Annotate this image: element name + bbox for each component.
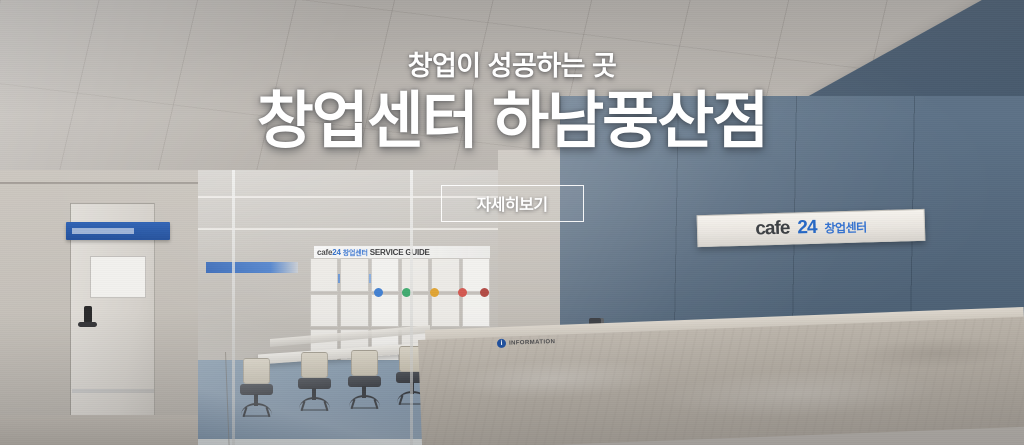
banner-subtitle: 창업이 성공하는 곳 [408, 52, 617, 82]
banner-title: 창업센터 하남풍산점 [257, 89, 768, 154]
view-details-button[interactable]: 자세히보기 [441, 185, 584, 222]
banner-text-overlay: 창업이 성공하는 곳 창업센터 하남풍산점 자세히보기 [0, 0, 1024, 445]
hero-banner: cafe24 창업센터 SERVICE GUIDE [0, 0, 1024, 445]
